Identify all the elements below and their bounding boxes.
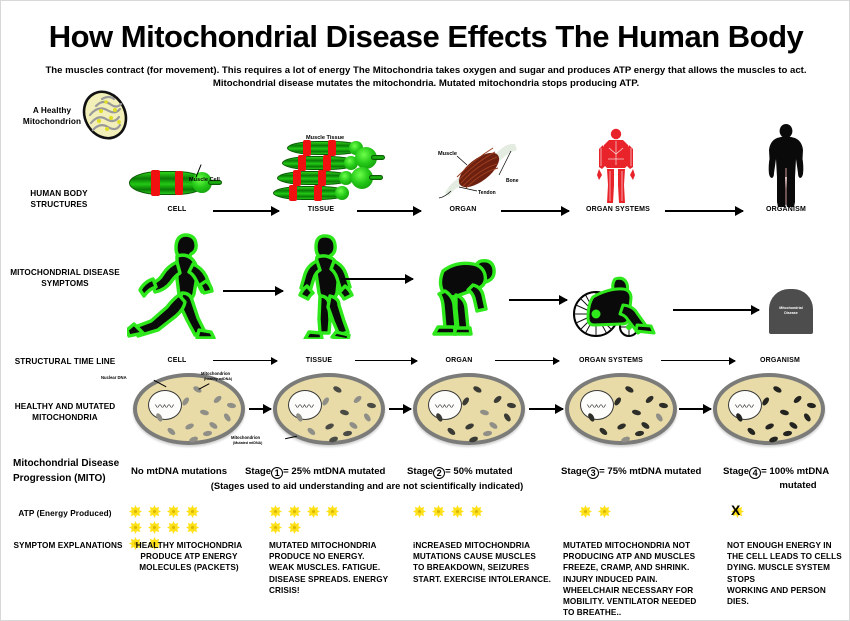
cell-arrow-1 xyxy=(249,408,271,410)
atp-star xyxy=(148,505,161,518)
structure-caption-organ-systems: ORGAN SYSTEMS xyxy=(579,206,657,213)
progression-stage-1: Stage1= 25% mtDNA mutated xyxy=(245,465,425,479)
progression-stage-4: Stage4= 100% mtDNA xyxy=(723,465,843,479)
progression-stage-label-4: Stage xyxy=(723,466,749,477)
atp-star xyxy=(186,505,199,518)
progression-note: (Stages used to aid understanding and ar… xyxy=(167,480,567,491)
explanation-line: MOBILITY. VENTILATOR NEEDED xyxy=(563,596,711,607)
atp-star xyxy=(167,521,180,534)
atp-star xyxy=(288,521,301,534)
atp-stars-group-4 xyxy=(579,505,665,518)
progression-stage-label-2: Stage xyxy=(407,466,433,477)
explanation-line: INJURY INDUCED PAIN. xyxy=(563,574,711,585)
structure-caption-organ: ORGAN xyxy=(433,206,493,213)
symptom-explanation-1: HEALTHY MITOCHONDRIAPRODUCE ATP ENERGYMO… xyxy=(129,540,249,574)
atp-stars-group-2 xyxy=(269,505,355,534)
explanation-line: NOT ENOUGH ENERGY IN xyxy=(727,540,847,551)
organism-silhouette xyxy=(757,124,815,208)
atp-star xyxy=(432,505,445,518)
explanation-line: MUTATED MITOCHONDRIA NOT xyxy=(563,540,711,551)
intro-line-1: The muscles contract (for movement). Thi… xyxy=(19,64,833,77)
explanation-line: PRODUCING ATP AND MUSCLES xyxy=(563,551,711,562)
progression-stage-4-line2: mutated xyxy=(743,479,850,492)
timeline-caption-tissue: TISSUE xyxy=(289,357,349,364)
timeline-caption-organism: ORGANISM xyxy=(745,357,815,364)
explanation-line: iNCREASED MITOCHONDRIA xyxy=(413,540,553,551)
explanation-line: DYING. MUSCLE SYSTEM STOPS xyxy=(727,562,847,584)
cell-diagram-4: 〰〰 xyxy=(565,373,677,445)
tombstone-illustration: Mitochondrial Disease xyxy=(769,289,813,334)
row-label-mitochondrial-disease-symptoms: MITOCHONDRIAL DISEASE SYMPTOMS xyxy=(7,267,123,289)
nucleus: 〰〰 xyxy=(728,390,762,420)
progression-stage-0: No mtDNA mutations xyxy=(119,465,239,478)
infographic-canvas: How Mitochondrial Disease Effects The Hu… xyxy=(0,0,850,621)
explanation-line: WEAK MUSCLES. FATIGUE. xyxy=(269,562,399,573)
progression-text-1: = 25% mtDNA mutated xyxy=(283,466,385,477)
atp-star xyxy=(413,505,426,518)
cell-arrow-2 xyxy=(389,408,411,410)
progression-text-3: = 75% mtDNA mutated xyxy=(599,466,701,477)
tombstone-line: Disease xyxy=(769,311,813,316)
atp-star xyxy=(148,521,161,534)
mitochondrion-healthy-label-line1: Mitochondrion xyxy=(201,371,230,376)
cell-diagram-5: 〰〰 xyxy=(713,373,825,445)
progression-stage-label-3: Stage xyxy=(561,466,587,477)
nuclear-dna-glyph: 〰〰 xyxy=(735,398,753,413)
atp-star xyxy=(129,521,142,534)
muscle-cell-label: Muscle Cell xyxy=(189,177,220,183)
row-label-line: MITOCHONDRIA xyxy=(7,412,123,423)
structure-arrow-4 xyxy=(665,210,743,212)
explanation-line: PRODUCE NO ENERGY. xyxy=(269,551,399,562)
tombstone-text: Mitochondrial Disease xyxy=(769,306,813,316)
atp-star xyxy=(307,505,320,518)
explanation-line: PRODUCE ATP ENERGY xyxy=(129,551,249,562)
atp-star xyxy=(579,505,592,518)
cell-arrow-3 xyxy=(529,408,563,410)
row-label-symptom-explanations: SYMPTOM EXPLANATIONS xyxy=(7,540,129,551)
atp-star xyxy=(326,505,339,518)
mitochondrion-healthy-label-line2: (healthy mtDNA) xyxy=(204,377,232,381)
row-label-structural-time-line: STRUCTURAL TIME LINE xyxy=(7,356,123,367)
atp-star xyxy=(269,505,282,518)
explanation-line: FREEZE, CRAMP, AND SHRINK. xyxy=(563,562,711,573)
atp-stars-group-5 xyxy=(731,505,817,518)
explanation-line: MOLECULES (PACKETS) xyxy=(129,562,249,573)
row-label-line: MITOCHONDRIAL DISEASE xyxy=(7,267,123,278)
symptom-arrow-2 xyxy=(341,278,413,280)
stage-number-2: 2 xyxy=(433,467,445,479)
atp-star xyxy=(167,505,180,518)
symptom-figure-wheelchair xyxy=(571,273,669,339)
symptom-figure-bending xyxy=(425,251,503,341)
atp-star xyxy=(269,521,282,534)
nucleus: 〰〰 xyxy=(148,390,182,420)
nucleus: 〰〰 xyxy=(580,390,614,420)
stage-number-3: 3 xyxy=(587,467,599,479)
explanation-line: HEALTHY MITOCHONDRIA xyxy=(129,540,249,551)
timeline-arrow-1 xyxy=(213,360,277,361)
symptom-explanation-3: iNCREASED MITOCHONDRIAMUTATIONS CAUSE MU… xyxy=(413,540,553,585)
explanation-line: CRISIS! xyxy=(269,585,399,596)
timeline-caption-organ: ORGAN xyxy=(429,357,489,364)
explanation-line: START. EXERCISE INTOLERANCE. xyxy=(413,574,553,585)
symptom-figure-running xyxy=(127,231,219,339)
explanation-line: MUTATED MITOCHONDRIA xyxy=(269,540,399,551)
intro-line-2: Mitochondrial disease mutates the mitoch… xyxy=(19,77,833,90)
explanation-line: WORKING AND PERSON xyxy=(727,585,847,596)
nuclear-dna-glyph: 〰〰 xyxy=(435,398,453,413)
progression-text-4: = 100% mtDNA xyxy=(761,466,829,477)
muscle-cell-illustration xyxy=(129,169,221,199)
timeline-caption-organ-systems: ORGAN SYSTEMS xyxy=(571,357,651,364)
mitochondrion-mutated-label-line1: Mitochondrion xyxy=(231,435,260,440)
nucleus: 〰〰 xyxy=(428,390,462,420)
structure-arrow-2 xyxy=(357,210,421,212)
atp-star xyxy=(598,505,611,518)
explanation-line: MUTATIONS CAUSE MUSCLES xyxy=(413,551,553,562)
row-label-healthy-and-mutated-mitochondria: HEALTHY AND MUTATED MITOCHONDRIA xyxy=(7,401,123,423)
bone-label: Bone xyxy=(506,178,519,184)
structure-arrow-3 xyxy=(501,210,569,212)
symptom-arrow-3 xyxy=(509,299,567,301)
symptom-arrow-4 xyxy=(673,309,759,311)
cell-diagram-2: 〰〰 xyxy=(273,373,385,445)
structure-caption-organism: ORGANISM xyxy=(751,206,821,213)
progression-text-0: No mtDNA mutations xyxy=(131,466,227,477)
explanation-line: DISEASE SPREADS. ENERGY xyxy=(269,574,399,585)
symptom-arrow-1 xyxy=(223,290,283,292)
progression-stage-2: Stage2= 50% mutated xyxy=(407,465,567,479)
symptom-figure-standing xyxy=(289,233,363,339)
nuclear-dna-glyph: 〰〰 xyxy=(155,398,173,413)
tendon-label: Tendon xyxy=(478,190,496,196)
stage-number-4: 4 xyxy=(749,467,761,479)
explanation-line: WHEELCHAIR NECESSARY FOR xyxy=(563,585,711,596)
row-label-atp: ATP (Energy Produced) xyxy=(7,508,123,519)
healthy-mitochondrion-illustration xyxy=(77,89,133,141)
nuclear-dna-label: Nuclear DNA xyxy=(101,375,127,380)
intro-paragraph: The muscles contract (for movement). Thi… xyxy=(19,64,833,90)
timeline-arrow-4 xyxy=(661,360,735,361)
nuclear-dna-glyph: 〰〰 xyxy=(587,398,605,413)
cell-diagram-1: 〰〰 xyxy=(133,373,245,445)
row-label-line: HEALTHY AND MUTATED xyxy=(7,401,123,412)
muscle-label: Muscle xyxy=(438,151,457,157)
progression-stage-3: Stage3= 75% mtDNA mutated xyxy=(561,465,741,479)
timeline-arrow-2 xyxy=(355,360,417,361)
symptom-explanation-4: MUTATED MITOCHONDRIA NOTPRODUCING ATP AN… xyxy=(563,540,711,618)
structure-caption-tissue: TISSUE xyxy=(291,206,351,213)
mitochondrion-mutated-label-line2: (Mutated mtDNA) xyxy=(233,441,262,445)
nuclear-dna-glyph: 〰〰 xyxy=(295,398,313,413)
muscle-tissue-illustration xyxy=(273,141,383,203)
atp-star xyxy=(451,505,464,518)
explanation-line: TO BREAKDOWN, SEIZURES xyxy=(413,562,553,573)
atp-star xyxy=(470,505,483,518)
row-label-human-body-structures: HUMAN BODY STRUCTURES xyxy=(9,188,109,210)
atp-crossed-out-x: X xyxy=(731,502,740,518)
row-label-line: SYMPTOMS xyxy=(7,278,123,289)
structure-arrow-1 xyxy=(213,210,279,212)
symptom-explanation-2: MUTATED MITOCHONDRIAPRODUCE NO ENERGY.WE… xyxy=(269,540,399,596)
explanation-line: TO BREATHE.. xyxy=(563,607,711,618)
explanation-line: DIES. xyxy=(727,596,847,607)
timeline-caption-cell: CELL xyxy=(147,357,207,364)
muscular-system-illustration xyxy=(593,128,639,206)
atp-star xyxy=(288,505,301,518)
progression-text-2: = 50% mutated xyxy=(445,466,512,477)
stage-number-1: 1 xyxy=(271,467,283,479)
cell-arrow-4 xyxy=(679,408,711,410)
atp-stars-group-3 xyxy=(413,505,499,518)
explanation-line: THE CELL LEADS TO CELLS xyxy=(727,551,847,562)
structure-caption-cell: CELL xyxy=(147,206,207,213)
cell-diagram-3: 〰〰 xyxy=(413,373,525,445)
nucleus: 〰〰 xyxy=(288,390,322,420)
page-title: How Mitochondrial Disease Effects The Hu… xyxy=(1,19,850,55)
wheelchair-spokes xyxy=(571,273,669,339)
progression-stage-label-1: Stage xyxy=(245,466,271,477)
timeline-arrow-3 xyxy=(495,360,559,361)
row-label-line: HUMAN BODY xyxy=(9,188,109,199)
symptom-explanation-5: NOT ENOUGH ENERGY INTHE CELL LEADS TO CE… xyxy=(727,540,847,607)
atp-star xyxy=(186,521,199,534)
atp-star xyxy=(129,505,142,518)
muscle-tissue-label: Muscle Tissue xyxy=(306,135,344,141)
row-label-line: STRUCTURES xyxy=(9,199,109,210)
